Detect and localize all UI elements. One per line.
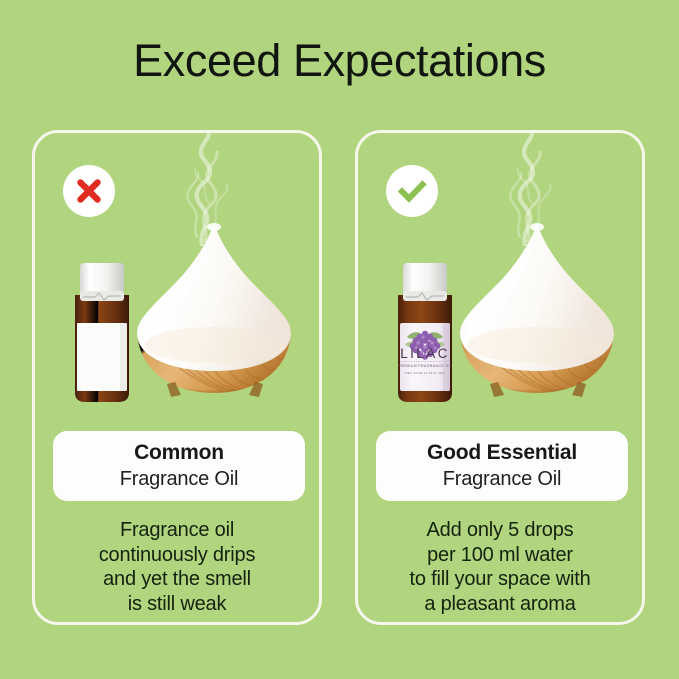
page-root: Exceed Expectations xyxy=(0,0,679,679)
comparison-card-good-essential: LILAC PREMIUM FRAGRANCE OIL NET 10 ML (0… xyxy=(355,130,645,625)
description-line: to fill your space with xyxy=(366,567,634,592)
description-line: continuously drips xyxy=(43,543,311,568)
nameplate-brand: Common xyxy=(134,440,224,466)
nameplate-common: Common Fragrance Oil xyxy=(53,431,305,501)
oil-bottle-icon xyxy=(71,261,133,403)
nameplate-kind: Fragrance Oil xyxy=(120,466,239,492)
card-description-common: Fragrance oil continuously drips and yet… xyxy=(43,518,311,616)
description-line: per 100 ml water xyxy=(366,543,634,568)
description-line: is still weak xyxy=(43,592,311,617)
card-description-good-essential: Add only 5 drops per 100 ml water to fil… xyxy=(366,518,634,616)
comparison-card-common: Common Fragrance Oil Fragrance oil conti… xyxy=(32,130,322,625)
page-title: Exceed Expectations xyxy=(0,33,679,89)
nameplate-kind: Fragrance Oil xyxy=(443,466,562,492)
check-icon xyxy=(396,175,428,207)
check-badge xyxy=(386,165,438,217)
description-line: Add only 5 drops xyxy=(366,518,634,543)
nameplate-brand: Good Essential xyxy=(427,440,577,466)
nameplate-good-essential: Good Essential Fragrance Oil xyxy=(376,431,628,501)
description-line: and yet the smell xyxy=(43,567,311,592)
description-line: Fragrance oil xyxy=(43,518,311,543)
description-line: a pleasant aroma xyxy=(366,592,634,617)
cross-icon xyxy=(74,176,104,206)
diffuser-icon xyxy=(123,221,305,401)
cross-badge xyxy=(63,165,115,217)
lilac-oil-bottle-icon xyxy=(394,261,456,403)
diffuser-icon xyxy=(446,221,628,401)
